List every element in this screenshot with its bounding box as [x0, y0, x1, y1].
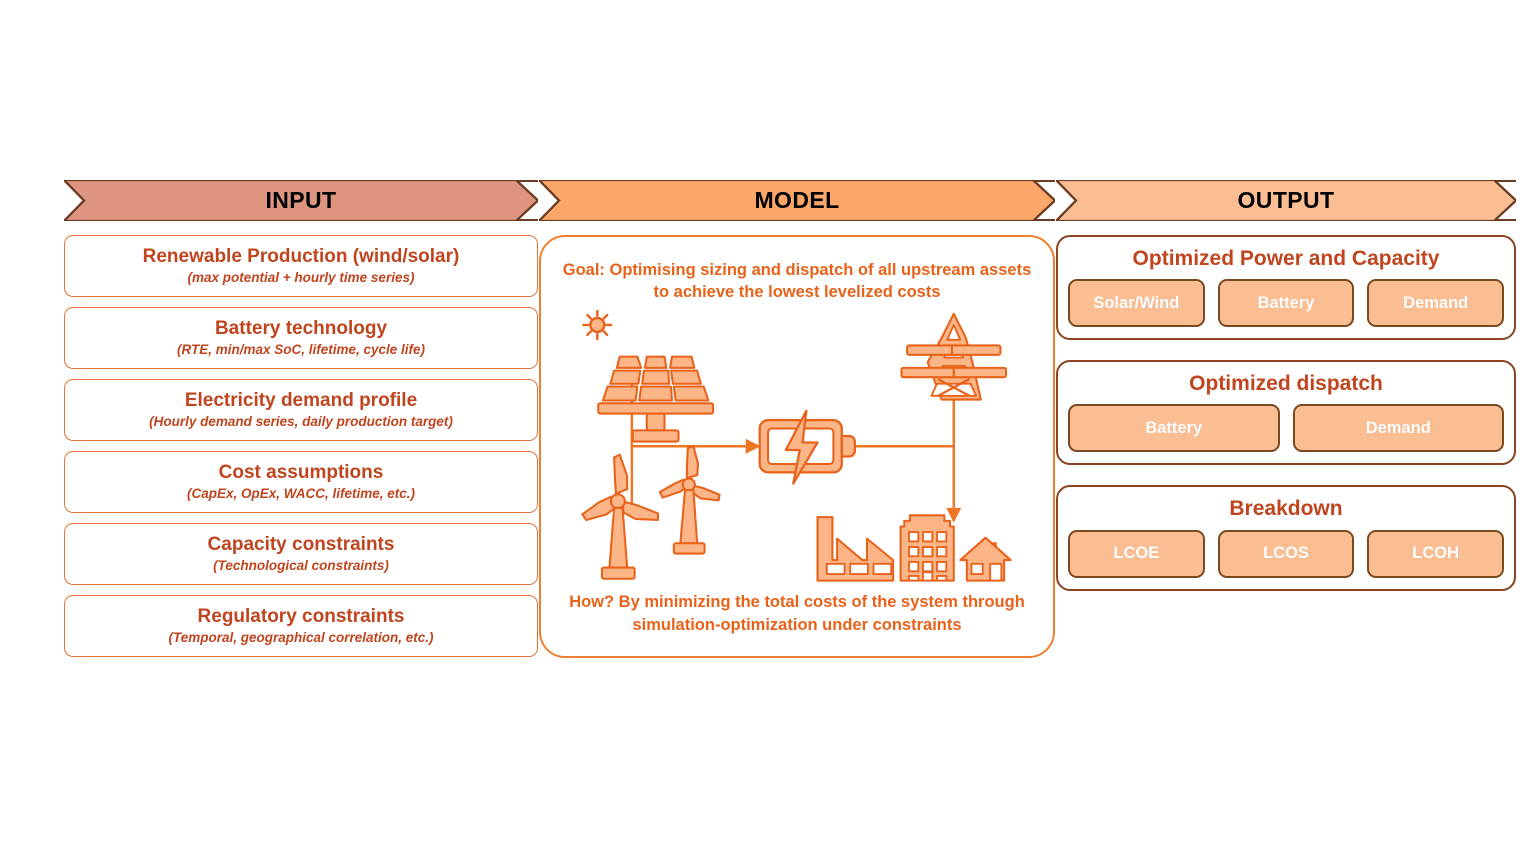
pill-lcoe[interactable]: LCOE — [1068, 530, 1205, 578]
input-item-subtitle: (Hourly demand series, daily production … — [149, 414, 453, 430]
input-item-subtitle: (RTE, min/max SoC, lifetime, cycle life) — [177, 342, 425, 358]
input-item-subtitle: (Temporal, geographical correlation, etc… — [168, 630, 433, 646]
output-banner: OUTPUT — [1056, 180, 1516, 221]
output-group-title: Optimized Power and Capacity — [1068, 246, 1504, 271]
input-item-subtitle: (Technological constraints) — [213, 558, 389, 574]
solar-cell — [674, 386, 709, 400]
battery-icon — [760, 410, 855, 483]
pill-lcos[interactable]: LCOS — [1218, 530, 1355, 578]
battery-terminal — [842, 436, 855, 457]
output-group-breakdown: Breakdown LCOE LCOS LCOH — [1056, 485, 1516, 590]
wind-turbine-icon — [582, 446, 719, 579]
input-item-renewable-production[interactable]: Renewable Production (wind/solar) (max p… — [64, 235, 538, 297]
house-icon — [960, 537, 1010, 580]
input-banner: INPUT — [64, 180, 538, 221]
sun-icon — [583, 310, 611, 338]
output-group-list: Optimized Power and Capacity Solar/Wind … — [1056, 235, 1516, 591]
solar-base-bar — [598, 403, 713, 413]
input-item-subtitle: (max potential + hourly time series) — [188, 270, 415, 286]
solar-stand-foot — [633, 430, 679, 441]
model-goal-text: Goal: Optimising sizing and dispatch of … — [559, 259, 1035, 304]
pill-solar-wind[interactable]: Solar/Wind — [1068, 279, 1205, 327]
model-schematic-svg — [559, 310, 1035, 590]
output-group-title: Optimized dispatch — [1068, 371, 1504, 396]
model-banner-label: MODEL — [754, 187, 839, 214]
solar-cell — [645, 356, 666, 367]
wind-turbine-small — [660, 446, 720, 553]
model-how-wrap: How? By minimizing the total costs of th… — [559, 591, 1035, 642]
factory-icon — [818, 517, 894, 580]
pill-row: Battery Demand — [1068, 404, 1504, 452]
input-column: INPUT Renewable Production (wind/solar) … — [64, 180, 538, 657]
input-item-cost-assumptions[interactable]: Cost assumptions (CapEx, OpEx, WACC, lif… — [64, 451, 538, 513]
output-banner-label: OUTPUT — [1238, 187, 1335, 214]
model-schematic — [559, 310, 1035, 590]
model-how-text: How? By minimizing the total costs of th… — [559, 591, 1035, 636]
pill-lcoh[interactable]: LCOH — [1367, 530, 1504, 578]
transmission-tower-icon — [902, 313, 1007, 399]
office-building-icon — [901, 515, 954, 580]
solar-cell — [603, 386, 638, 400]
solar-panel-icon — [583, 310, 713, 441]
solar-cell — [670, 356, 694, 367]
model-panel: Goal: Optimising sizing and dispatch of … — [539, 235, 1055, 658]
model-banner: MODEL — [539, 180, 1055, 221]
solar-cell — [610, 370, 640, 383]
pill-dispatch-demand[interactable]: Demand — [1293, 404, 1505, 452]
arrowhead-into-battery-left — [746, 438, 761, 453]
buildings-icon — [818, 515, 1011, 580]
solar-stand-post — [647, 413, 665, 430]
input-item-title: Renewable Production (wind/solar) — [143, 246, 460, 268]
input-banner-label: INPUT — [266, 187, 337, 214]
input-item-capacity-constraints[interactable]: Capacity constraints (Technological cons… — [64, 523, 538, 585]
input-item-regulatory-constraints[interactable]: Regulatory constraints (Temporal, geogra… — [64, 595, 538, 657]
solar-cell — [617, 356, 641, 367]
input-item-title: Electricity demand profile — [185, 390, 417, 412]
input-item-list: Renewable Production (wind/solar) (max p… — [64, 235, 538, 657]
output-group-optimized-power-and-capacity: Optimized Power and Capacity Solar/Wind … — [1056, 235, 1516, 340]
input-item-electricity-demand-profile[interactable]: Electricity demand profile (Hourly deman… — [64, 379, 538, 441]
model-column: MODEL Goal: Optimising sizing and dispat… — [539, 180, 1055, 658]
output-group-optimized-dispatch: Optimized dispatch Battery Demand — [1056, 360, 1516, 465]
input-item-battery-technology[interactable]: Battery technology (RTE, min/max SoC, li… — [64, 307, 538, 369]
pill-row: LCOE LCOS LCOH — [1068, 530, 1504, 578]
output-group-title: Breakdown — [1068, 496, 1504, 521]
pill-battery[interactable]: Battery — [1218, 279, 1355, 327]
input-item-title: Capacity constraints — [208, 534, 395, 556]
diagram-canvas: INPUT Renewable Production (wind/solar) … — [0, 0, 1536, 864]
wind-turbine-large — [582, 454, 658, 578]
input-item-title: Regulatory constraints — [198, 606, 405, 628]
input-item-title: Battery technology — [215, 318, 387, 340]
output-column: OUTPUT Optimized Power and Capacity Sola… — [1056, 180, 1516, 591]
solar-cell — [639, 386, 672, 400]
solar-cell — [642, 370, 669, 383]
input-item-subtitle: (CapEx, OpEx, WACC, lifetime, etc.) — [187, 486, 415, 502]
pill-dispatch-battery[interactable]: Battery — [1068, 404, 1280, 452]
pill-row: Solar/Wind Battery Demand — [1068, 279, 1504, 327]
input-item-title: Cost assumptions — [219, 462, 384, 484]
solar-cell — [671, 370, 701, 383]
pill-demand[interactable]: Demand — [1367, 279, 1504, 327]
